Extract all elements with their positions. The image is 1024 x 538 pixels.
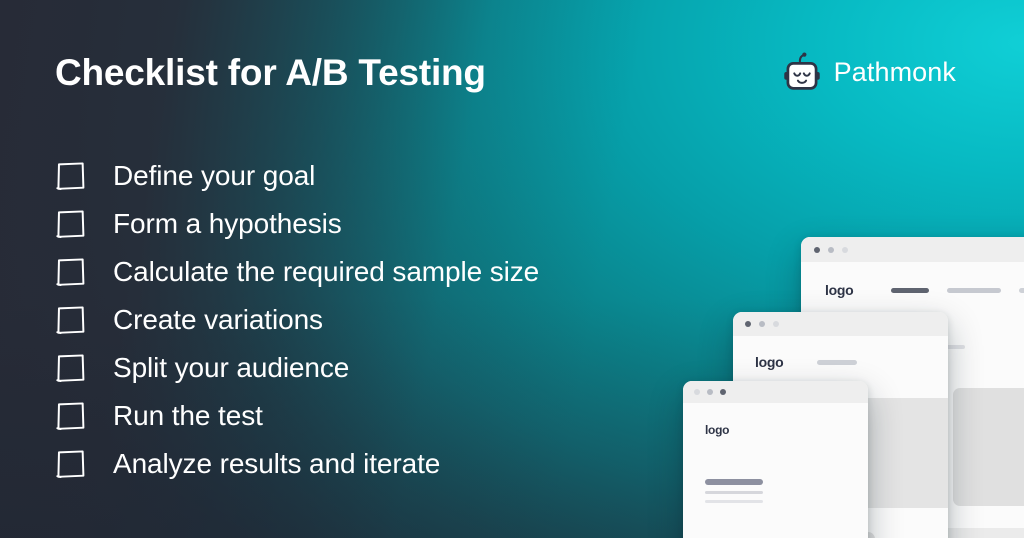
checklist-item-4[interactable]: Create variations [55, 296, 539, 344]
checklist-item-label: Split your audience [113, 354, 349, 382]
checkbox-icon[interactable] [55, 305, 87, 336]
front-window-logo: logo [705, 423, 729, 437]
window-dot-minimize-icon [707, 389, 713, 395]
checklist-item-2[interactable]: Form a hypothesis [55, 200, 539, 248]
text-line-body [705, 500, 763, 503]
middle-window-titlebar [733, 312, 948, 336]
checkbox-icon[interactable] [55, 401, 87, 432]
poster-canvas: logo [0, 0, 1024, 538]
checklist-item-6[interactable]: Run the test [55, 392, 539, 440]
page-title: Checklist for A/B Testing [55, 52, 486, 94]
middle-window-nav [817, 360, 857, 365]
text-line-heading [705, 479, 763, 485]
checklist: Define your goal Form a hypothesis Calcu… [55, 152, 539, 488]
window-dot-close-icon [745, 321, 751, 327]
brand-logo: Pathmonk [782, 52, 956, 92]
checkbox-icon[interactable] [55, 209, 87, 240]
checklist-item-1[interactable]: Define your goal [55, 152, 539, 200]
checkbox-icon[interactable] [55, 353, 87, 384]
checklist-item-label: Run the test [113, 402, 263, 430]
checkbox-icon[interactable] [55, 449, 87, 480]
back-window-nav [891, 288, 1024, 293]
checklist-item-label: Create variations [113, 306, 323, 334]
checklist-item-5[interactable]: Split your audience [55, 344, 539, 392]
checklist-item-label: Calculate the required sample size [113, 258, 539, 286]
checklist-item-7[interactable]: Analyze results and iterate [55, 440, 539, 488]
front-window-text-lines [683, 437, 868, 503]
checkbox-icon[interactable] [55, 161, 87, 192]
front-window: logo [683, 381, 868, 538]
nav-item-inactive [947, 288, 1001, 293]
front-window-titlebar [683, 381, 868, 403]
back-window-titlebar [801, 237, 1024, 262]
nav-item-inactive [1019, 288, 1024, 293]
window-dot-close-icon [814, 247, 820, 253]
middle-window-header: logo [733, 336, 948, 370]
nav-item-inactive [817, 360, 857, 365]
brand-name: Pathmonk [834, 57, 956, 88]
text-line-body [705, 491, 763, 494]
checklist-item-label: Define your goal [113, 162, 315, 190]
window-dot-maximize-icon [842, 247, 848, 253]
checkbox-icon[interactable] [55, 257, 87, 288]
checklist-item-3[interactable]: Calculate the required sample size [55, 248, 539, 296]
nav-item-active [891, 288, 929, 293]
checklist-item-label: Analyze results and iterate [113, 450, 440, 478]
window-dot-close-icon [694, 389, 700, 395]
window-dot-minimize-icon [759, 321, 765, 327]
window-dot-maximize-icon [720, 389, 726, 395]
window-dot-maximize-icon [773, 321, 779, 327]
content-box [953, 388, 1024, 506]
back-window-logo: logo [825, 282, 853, 298]
front-window-header: logo [683, 403, 868, 437]
front-window-body: logo [683, 403, 868, 538]
robot-head-icon [782, 52, 822, 92]
window-dot-minimize-icon [828, 247, 834, 253]
middle-window-logo: logo [755, 354, 783, 370]
checklist-item-label: Form a hypothesis [113, 210, 342, 238]
back-window-header: logo [801, 262, 1024, 298]
